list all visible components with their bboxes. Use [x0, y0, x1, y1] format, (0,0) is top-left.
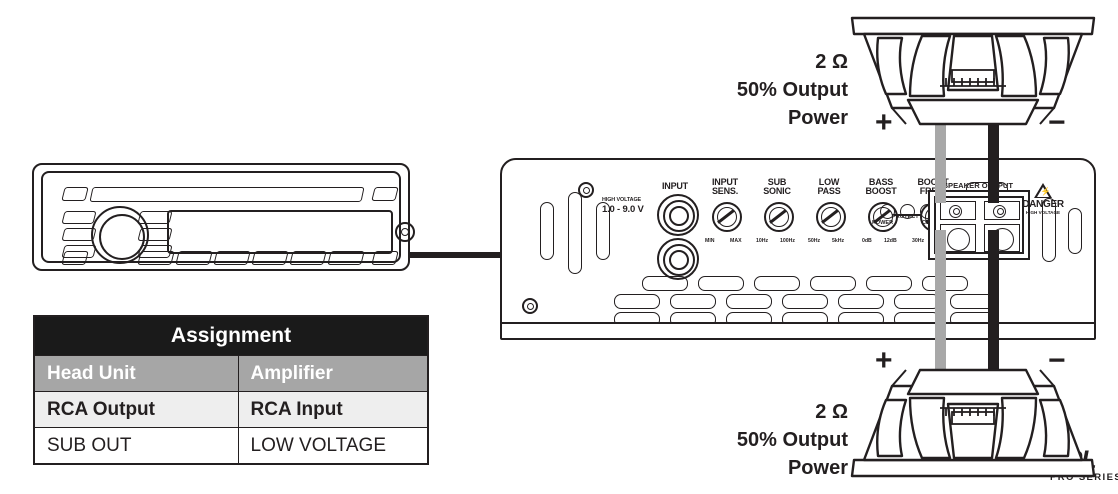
subwoofer-bottom-graphic: [848, 360, 1098, 482]
control-label-low-pass: LOW PASS: [806, 178, 852, 197]
vent-slot: [754, 276, 800, 291]
top-sub-power-line: Power: [676, 104, 848, 132]
power-led-label: POWER: [872, 220, 893, 226]
subwoofer-bottom-negative-terminal: −: [1048, 350, 1066, 372]
vent-slot: [866, 276, 912, 291]
sub-sonic-knob[interactable]: [764, 202, 794, 232]
subwoofer-bottom: [848, 360, 1098, 482]
tick-sub-sonic-min: 10Hz: [756, 238, 768, 244]
tick-low-pass-min: 50Hz: [808, 238, 820, 244]
tick-bass-boost-max: 12dB: [884, 238, 897, 244]
input-sens-knob[interactable]: [712, 202, 742, 232]
danger-subtext: HIGH VOLTAGE: [1014, 210, 1072, 215]
subwoofer-top-positive-terminal: +: [875, 112, 893, 134]
tick-input-sens-max: MAX: [730, 238, 742, 244]
vent-slot: [782, 294, 828, 309]
control-label-input-sens: INPUT SENS.: [702, 178, 748, 197]
head-unit-preset-button[interactable]: [175, 251, 212, 265]
volume-knob-inner: [99, 214, 145, 260]
tick-sub-sonic-max: 100Hz: [780, 238, 795, 244]
table-row: RCA Output RCA Input: [34, 392, 428, 428]
vent-slot: [614, 294, 660, 309]
assignment-cell-amplifier-1: RCA Input: [238, 392, 428, 428]
subwoofer-bottom-positive-terminal: +: [875, 350, 893, 372]
head-unit-preset-button[interactable]: [327, 251, 364, 265]
bottom-sub-output-line: 50% Output: [676, 426, 848, 454]
vent-slot: [838, 294, 884, 309]
annotation-bottom-subwoofer: 2 Ω 50% Output Power: [676, 398, 848, 482]
vent-slot: [698, 276, 744, 291]
terminal-block-inner: [934, 196, 1024, 254]
control-label-bass-boost: BASS BOOST: [858, 178, 904, 197]
diagram-canvas: HIGH VOLTAGE 1.0 - 9.0 V INPUT INPUT SEN…: [0, 0, 1118, 494]
danger-warning-label: ⚡ DANGER HIGH VOLTAGE: [1014, 183, 1072, 215]
tick-bass-boost-min: 0dB: [862, 238, 872, 244]
vent-slot: [726, 294, 772, 309]
head-unit-preset-button[interactable]: [251, 251, 288, 265]
high-voltage-caption: HIGH VOLTAGE: [602, 198, 656, 204]
vent-slot: [670, 294, 716, 309]
head-unit-cd-slot: [89, 187, 364, 202]
annotation-top-subwoofer: 2 Ω 50% Output Power: [676, 48, 848, 132]
top-sub-impedance: 2 Ω: [676, 48, 848, 76]
head-unit-corner-button[interactable]: [61, 187, 88, 201]
subwoofer-top-negative-terminal: −: [1048, 112, 1066, 134]
assignment-table: Assignment Head Unit Amplifier RCA Outpu…: [33, 315, 429, 465]
assignment-table-title: Assignment: [34, 316, 428, 356]
head-unit-preset-button[interactable]: [137, 251, 174, 265]
assignment-cell-head-unit-1: RCA Output: [34, 392, 238, 428]
vent-slot: [810, 276, 856, 291]
top-sub-output-line: 50% Output: [676, 76, 848, 104]
tick-input-sens-min: MIN: [705, 238, 715, 244]
bottom-sub-impedance: 2 Ω: [676, 398, 848, 426]
vent-slot: [642, 276, 688, 291]
assignment-cell-amplifier-2: LOW VOLTAGE: [238, 428, 428, 465]
high-voltage-label: HIGH VOLTAGE 1.0 - 9.0 V: [602, 198, 656, 215]
table-row: SUB OUT LOW VOLTAGE: [34, 428, 428, 465]
input-label: INPUT: [652, 182, 698, 191]
head-unit-display: [167, 210, 393, 254]
head-unit: [32, 163, 410, 271]
head-unit-preset-button[interactable]: [213, 251, 250, 265]
bottom-sub-power-line: Power: [676, 454, 848, 482]
tick-low-pass-max: 5kHz: [832, 238, 844, 244]
amp-screw: [522, 298, 538, 314]
heatsink-fin: [568, 192, 582, 274]
head-unit-side-button[interactable]: [61, 245, 96, 258]
heatsink-fin: [540, 202, 554, 260]
high-voltage-value: 1.0 - 9.0 V: [602, 205, 656, 215]
rca-input-jack-top[interactable]: [657, 194, 699, 236]
head-unit-side-button[interactable]: [61, 211, 96, 224]
control-label-sub-sonic: SUB SONIC: [754, 178, 800, 197]
protect-led-label: PROTECT: [892, 214, 919, 220]
danger-text: DANGER: [1014, 199, 1072, 210]
tick-boost-freq-min: 30Hz: [912, 238, 924, 244]
head-unit-faceplate: [41, 171, 401, 263]
head-unit-corner-button[interactable]: [371, 187, 398, 201]
head-unit-preset-button[interactable]: [289, 251, 326, 265]
head-unit-eject-button[interactable]: [395, 222, 415, 242]
amplifier-base-plate: [500, 322, 1096, 340]
speaker-terminal-screw-positive[interactable]: [940, 201, 976, 220]
low-pass-knob[interactable]: [816, 202, 846, 232]
high-voltage-warning-icon: ⚡: [1034, 183, 1052, 198]
vent-slot: [894, 294, 940, 309]
rca-input-jack-bottom[interactable]: [657, 238, 699, 280]
assignment-cell-head-unit-2: SUB OUT: [34, 428, 238, 465]
assignment-column-head-unit: Head Unit: [34, 356, 238, 392]
assignment-column-amplifier: Amplifier: [238, 356, 428, 392]
